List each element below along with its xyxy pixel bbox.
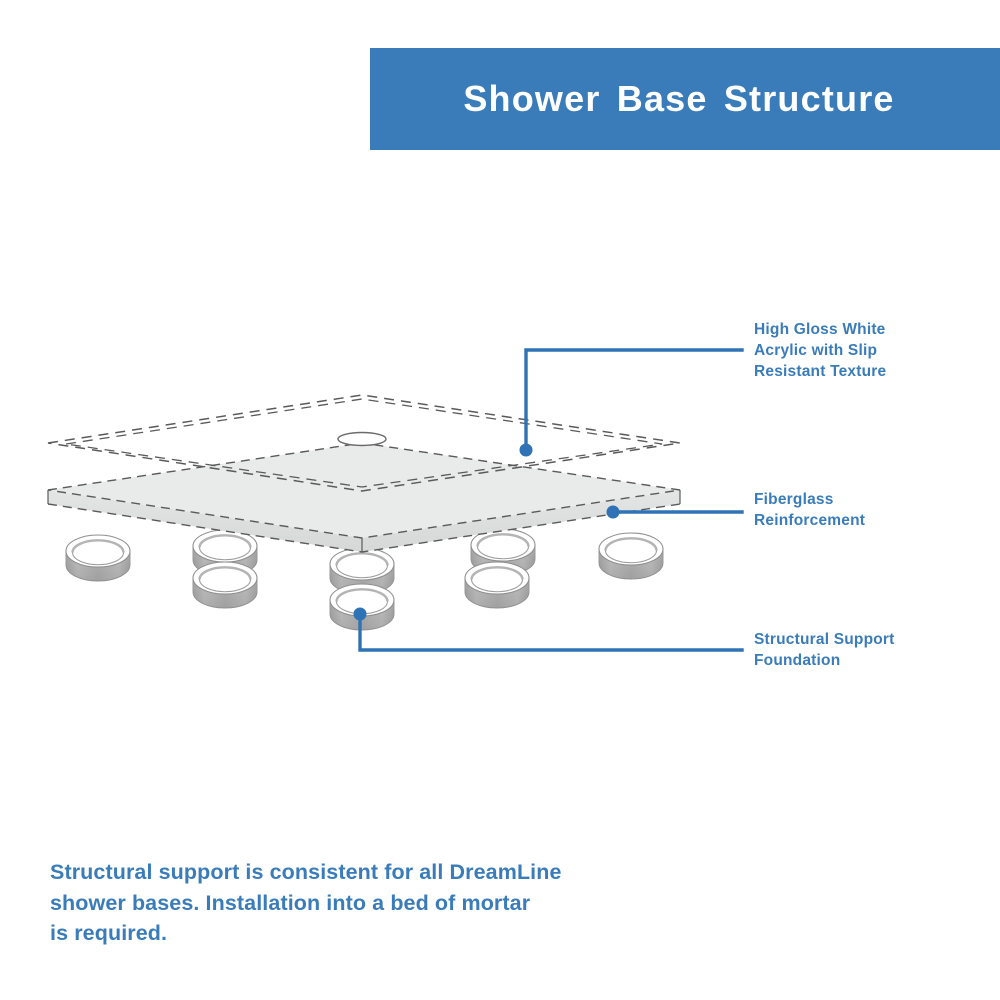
support-ring — [465, 562, 529, 608]
callout-label-acrylic: High Gloss White Acrylic with Slip Resis… — [754, 320, 992, 383]
callout-label-fiberglass: Fiberglass Reinforcement — [754, 490, 992, 532]
support-ring — [330, 584, 394, 630]
leader-dot-support — [354, 608, 367, 621]
footer-caption: Structural support is consistent for all… — [50, 857, 690, 949]
leader-dot-acrylic — [520, 444, 533, 457]
callout-label-support: Structural Support Foundation — [754, 630, 992, 672]
leader-dot-fiberglass — [607, 506, 620, 519]
support-ring — [66, 535, 130, 581]
support-ring — [599, 533, 663, 579]
leader-line-support — [360, 614, 742, 650]
support-ring — [193, 562, 257, 608]
leader-line-acrylic — [526, 350, 742, 450]
drain-ellipse — [338, 433, 386, 446]
fiberglass-slab — [48, 443, 680, 552]
